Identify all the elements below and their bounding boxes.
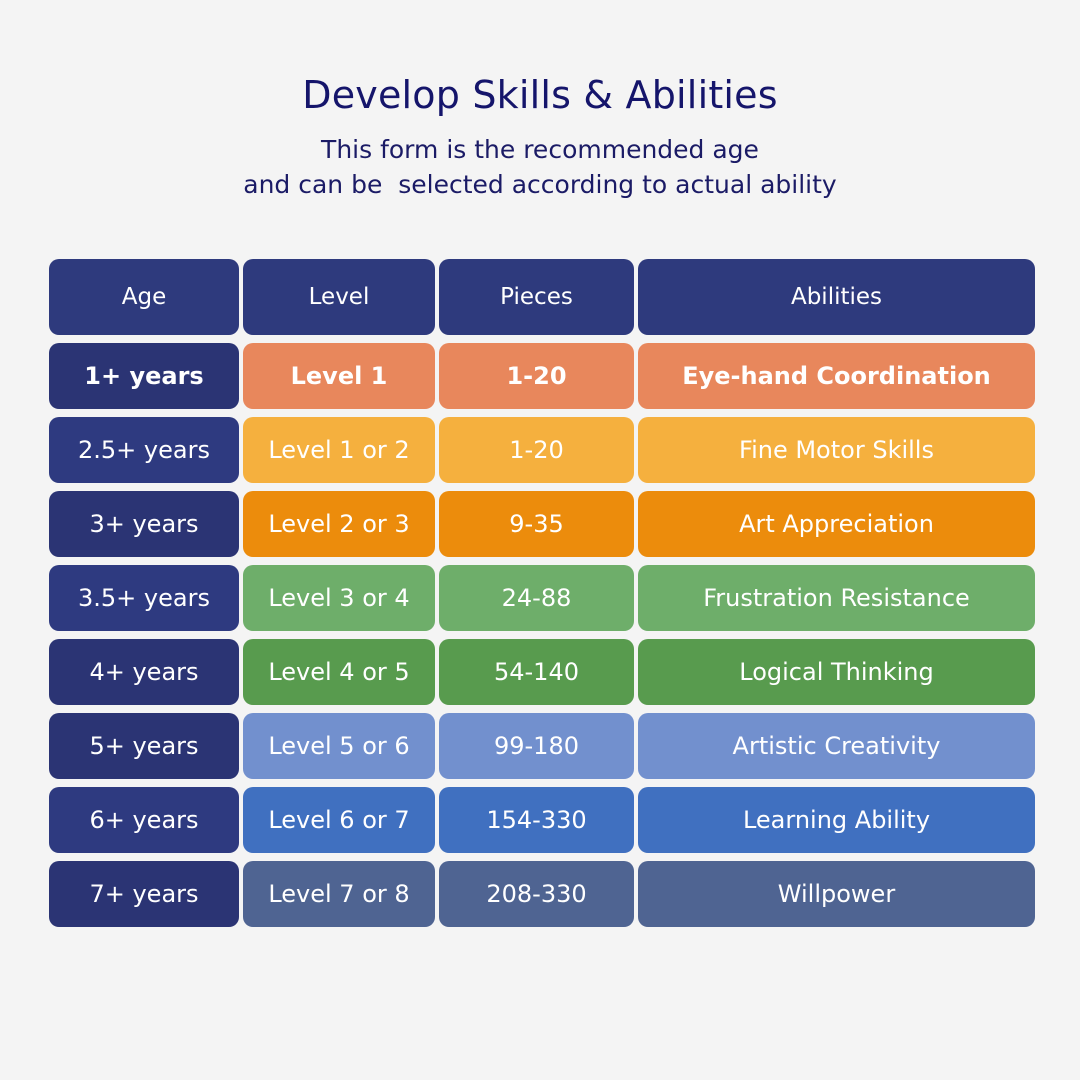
table-row: 5+ yearsLevel 5 or 699-180Artistic Creat…: [49, 713, 1031, 779]
cell-age: 3.5+ years: [49, 565, 239, 631]
cell-level: Level 2 or 3: [243, 491, 435, 557]
cell-pieces: 9-35: [439, 491, 634, 557]
cell-level: Level 4 or 5: [243, 639, 435, 705]
cell-ability: Fine Motor Skills: [638, 417, 1035, 483]
table-row: 3+ yearsLevel 2 or 39-35Art Appreciation: [49, 491, 1031, 557]
cell-level: Level 3 or 4: [243, 565, 435, 631]
cell-level: Level 7 or 8: [243, 861, 435, 927]
column-header-pieces: Pieces: [439, 259, 634, 335]
heading-block: Develop Skills & Abilities This form is …: [0, 74, 1080, 203]
table-row: 7+ yearsLevel 7 or 8208-330Willpower: [49, 861, 1031, 927]
subtitle-line-2: and can be selected according to actual …: [0, 167, 1080, 203]
column-header-level: Level: [243, 259, 435, 335]
cell-ability: Artistic Creativity: [638, 713, 1035, 779]
cell-pieces: 54-140: [439, 639, 634, 705]
cell-ability: Learning Ability: [638, 787, 1035, 853]
cell-ability: Logical Thinking: [638, 639, 1035, 705]
cell-age: 2.5+ years: [49, 417, 239, 483]
cell-age: 7+ years: [49, 861, 239, 927]
cell-ability: Eye-hand Coordination: [638, 343, 1035, 409]
cell-pieces: 1-20: [439, 417, 634, 483]
cell-level: Level 5 or 6: [243, 713, 435, 779]
cell-pieces: 208-330: [439, 861, 634, 927]
table-row: 2.5+ yearsLevel 1 or 21-20Fine Motor Ski…: [49, 417, 1031, 483]
cell-ability: Art Appreciation: [638, 491, 1035, 557]
column-header-abilities: Abilities: [638, 259, 1035, 335]
cell-pieces: 1-20: [439, 343, 634, 409]
cell-age: 1+ years: [49, 343, 239, 409]
cell-ability: Willpower: [638, 861, 1035, 927]
page-subtitle: This form is the recommended age and can…: [0, 132, 1080, 203]
table-row: 6+ yearsLevel 6 or 7154-330Learning Abil…: [49, 787, 1031, 853]
table-row: 4+ yearsLevel 4 or 554-140Logical Thinki…: [49, 639, 1031, 705]
table-row: 3.5+ yearsLevel 3 or 424-88Frustration R…: [49, 565, 1031, 631]
subtitle-line-1: This form is the recommended age: [0, 132, 1080, 168]
cell-level: Level 6 or 7: [243, 787, 435, 853]
cell-level: Level 1: [243, 343, 435, 409]
cell-age: 5+ years: [49, 713, 239, 779]
cell-age: 6+ years: [49, 787, 239, 853]
cell-level: Level 1 or 2: [243, 417, 435, 483]
table-body: 1+ yearsLevel 11-20Eye-hand Coordination…: [49, 343, 1031, 927]
cell-pieces: 24-88: [439, 565, 634, 631]
cell-age: 4+ years: [49, 639, 239, 705]
table-header-row: Age Level Pieces Abilities: [49, 259, 1031, 335]
infographic-page: Develop Skills & Abilities This form is …: [0, 0, 1080, 1080]
cell-age: 3+ years: [49, 491, 239, 557]
cell-pieces: 154-330: [439, 787, 634, 853]
cell-ability: Frustration Resistance: [638, 565, 1035, 631]
column-header-age: Age: [49, 259, 239, 335]
page-title: Develop Skills & Abilities: [0, 74, 1080, 118]
cell-pieces: 99-180: [439, 713, 634, 779]
skills-table: Age Level Pieces Abilities 1+ yearsLevel…: [49, 259, 1031, 927]
table-row: 1+ yearsLevel 11-20Eye-hand Coordination: [49, 343, 1031, 409]
